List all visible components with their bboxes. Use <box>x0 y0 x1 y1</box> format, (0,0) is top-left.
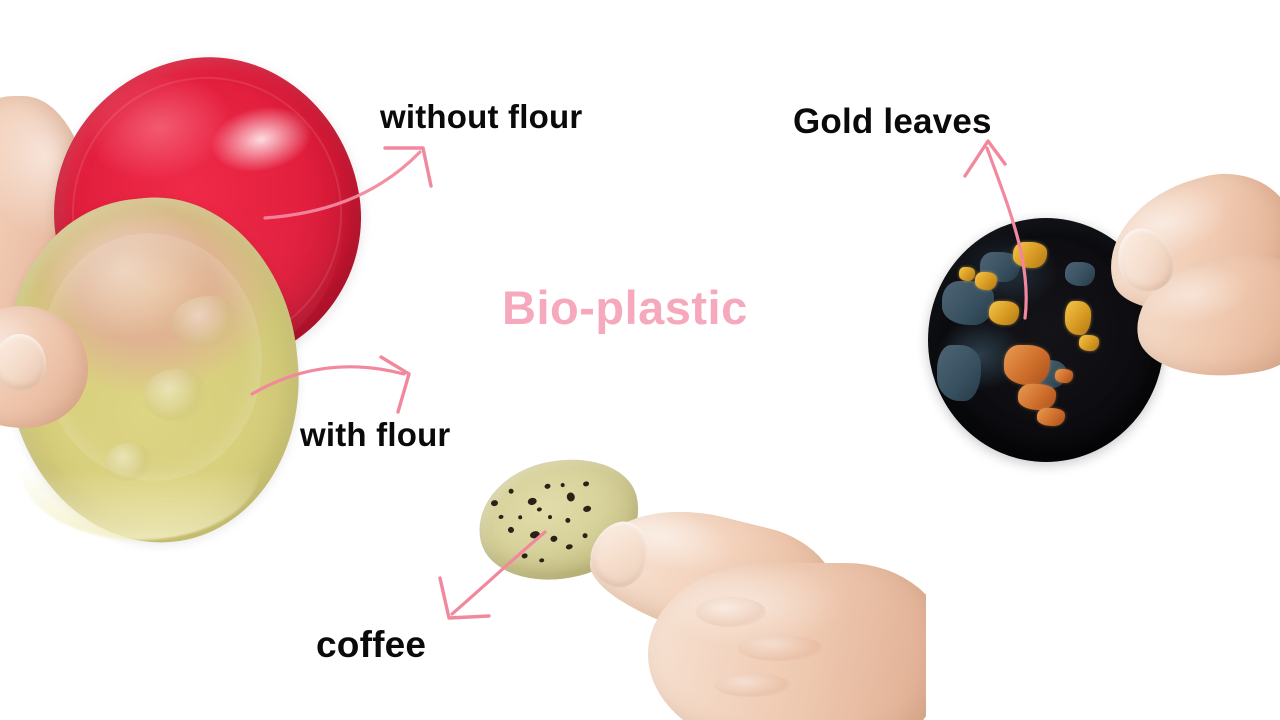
gold-leaf-flake <box>1013 242 1047 268</box>
copper-leaf-flake <box>1037 408 1065 426</box>
label-with-flour: with flour <box>300 416 450 454</box>
copper-leaf-flake <box>1055 369 1073 383</box>
page-title: Bio-plastic <box>502 280 748 335</box>
gold-leaf-flake <box>959 267 975 281</box>
photo-right-hand-black-disc <box>900 170 1280 510</box>
gold-leaf-flake <box>989 301 1019 325</box>
gold-leaf-flake <box>1065 301 1091 335</box>
slate-flake <box>937 345 981 401</box>
label-coffee: coffee <box>316 624 426 666</box>
slate-flake <box>1065 262 1095 286</box>
copper-leaf-flake <box>1018 384 1056 410</box>
gold-leaf-flake <box>1079 335 1099 351</box>
gold-leaf-flake <box>975 272 997 290</box>
bioplastic-comparison-image: without flour with flour Gold leaves cof… <box>0 0 1280 720</box>
yellow-disc-edge <box>20 468 260 540</box>
label-without-flour: without flour <box>380 98 582 136</box>
photo-left-hand-discs <box>0 38 400 538</box>
copper-leaf-flake <box>1004 345 1050 385</box>
photo-bottom-hand-coffee-disc <box>440 455 926 720</box>
label-gold-leaves: Gold leaves <box>793 102 992 142</box>
bottom-hand-palm <box>648 563 926 720</box>
